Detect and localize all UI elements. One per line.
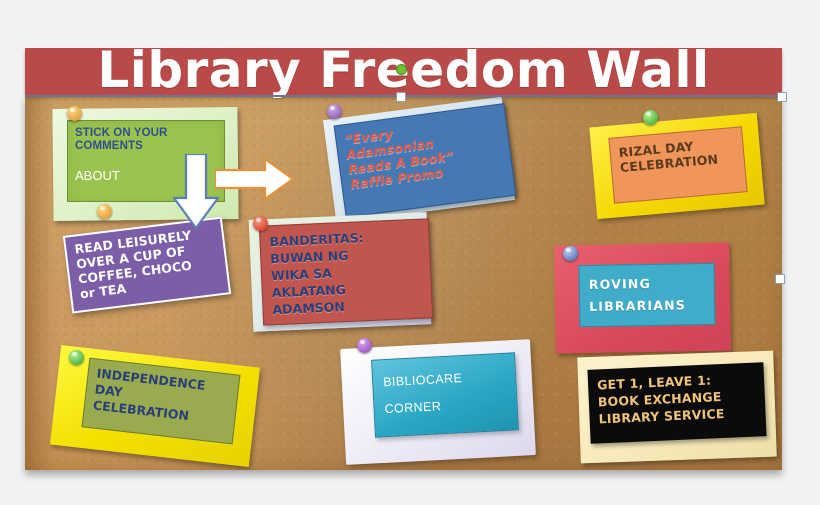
- pushpin-icon: [67, 106, 82, 121]
- note-text: RIZAL DAY CELEBRATION: [618, 135, 736, 175]
- arrow-right-icon: [215, 158, 295, 200]
- note-get-one-leave-one[interactable]: GET 1, LEAVE 1: BOOK EXCHANGE LIBRARY SE…: [579, 354, 779, 470]
- note-card[interactable]: ROVING LIBRARIANS: [578, 263, 715, 327]
- note-card[interactable]: READ LEISURELY OVER A CUP OF COFFEE, CHO…: [63, 217, 231, 314]
- pushpin-icon: [327, 104, 342, 119]
- arrow-down-icon: [173, 154, 219, 230]
- note-card[interactable]: BIBLIOCARE CORNER: [371, 352, 519, 437]
- note-read-leisurely[interactable]: READ LEISURELY OVER A CUP OF COFFEE, CHO…: [67, 226, 242, 326]
- note-text: “Every Adamsonian Reads A Book” Raffle P…: [344, 112, 505, 192]
- note-rizal-day-celebration[interactable]: RIZAL DAY CELEBRATION: [593, 110, 768, 220]
- slide-canvas: Library Freedom Wall STICK ON YOUR COMME…: [0, 0, 820, 505]
- note-independence-day-celebration[interactable]: INDEPENDENCE DAY CELEBRATION: [55, 348, 265, 466]
- pushpin-icon: [97, 204, 112, 219]
- note-text: ROVING LIBRARIANS: [589, 272, 706, 318]
- pushpin-icon: [643, 110, 658, 125]
- note-bibliocare-corner[interactable]: BIBLIOCARE CORNER: [343, 338, 543, 468]
- note-text: BANDERITAS: BUWAN NG WIKA SA AKLATANG AD…: [269, 227, 423, 318]
- pushpin-icon: [69, 350, 84, 365]
- rotation-handle[interactable]: [396, 64, 407, 75]
- note-text: BIBLIOCARE CORNER: [383, 363, 508, 423]
- note-text: GET 1, LEAVE 1: BOOK EXCHANGE LIBRARY SE…: [597, 370, 757, 428]
- note-text: INDEPENDENCE DAY CELEBRATION: [92, 366, 231, 429]
- note-raffle-promo[interactable]: “Every Adamsonian Reads A Book” Raffle P…: [325, 102, 520, 220]
- note-text: READ LEISURELY OVER A CUP OF COFFEE, CHO…: [74, 225, 220, 302]
- note-card[interactable]: RIZAL DAY CELEBRATION: [608, 126, 747, 203]
- note-card[interactable]: BANDERITAS: BUWAN NG WIKA SA AKLATANG AD…: [259, 218, 433, 325]
- cork-board[interactable]: STICK ON YOUR COMMENTS ABOUT “Every Adam…: [25, 96, 782, 470]
- pushpin-icon: [563, 246, 578, 261]
- pushpin-icon: [253, 216, 268, 231]
- note-banderitas[interactable]: BANDERITAS: BUWAN NG WIKA SA AKLATANG AD…: [247, 214, 439, 336]
- pushpin-icon: [357, 338, 372, 353]
- note-card[interactable]: GET 1, LEAVE 1: BOOK EXCHANGE LIBRARY SE…: [587, 362, 766, 444]
- resize-handle-bottom-right[interactable]: [777, 92, 787, 102]
- note-roving-librarians[interactable]: ROVING LIBRARIANS: [555, 244, 740, 362]
- note-title: STICK ON YOUR COMMENTS: [75, 127, 217, 153]
- resize-handle-right[interactable]: [775, 274, 785, 284]
- resize-handle-bottom[interactable]: [396, 92, 406, 102]
